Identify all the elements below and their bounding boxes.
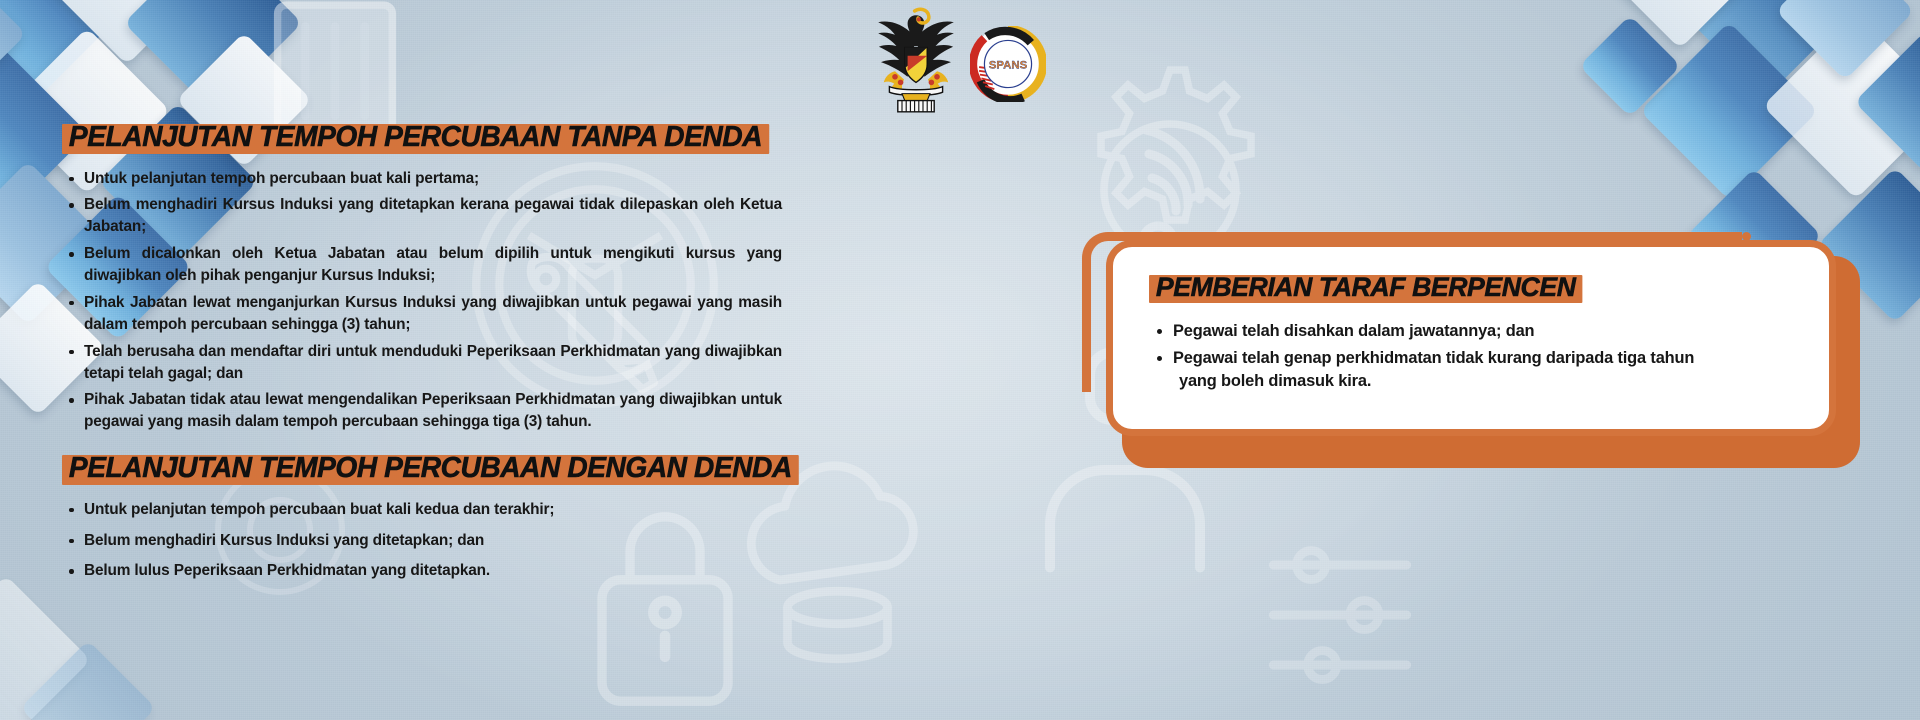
- list-item: Untuk pelanjutan tempoh percubaan buat k…: [62, 168, 782, 190]
- list-item: Pegawai telah genap perkhidmatan tidak k…: [1149, 347, 1803, 394]
- decor-diamond: [0, 0, 26, 96]
- list-item: Pegawai telah disahkan dalam jawatannya;…: [1149, 320, 1803, 344]
- decor-diamond: [0, 575, 91, 720]
- decor-diamond: [20, 640, 156, 720]
- decor-diamond: [1776, 0, 1915, 80]
- spans-logo-icon: SPANS: [970, 26, 1046, 102]
- list-item: Belum menghadiri Kursus Induksi yang dit…: [62, 194, 782, 238]
- pemberian-taraf-berpencen-card: PEMBERIAN TARAF BERPENCEN Pegawai telah …: [1106, 240, 1836, 436]
- list-item: Belum lulus Peperiksaan Perkhidmatan yan…: [62, 560, 782, 582]
- decor-diamond: [1579, 15, 1681, 117]
- section1-heading: PELANJUTAN TEMPOH PERCUBAAN TANPA DENDA: [62, 118, 769, 159]
- section2-heading: PELANJUTAN TEMPOH PERCUBAAN DENGAN DENDA: [62, 449, 799, 490]
- svg-text:SPANS: SPANS: [989, 60, 1028, 72]
- header-logos: SPANS: [874, 4, 1046, 116]
- decor-diamond: [1763, 13, 1920, 200]
- card-heading: PEMBERIAN TARAF BERPENCEN: [1149, 269, 1582, 308]
- section1-bullet-list: Untuk pelanjutan tempoh percubaan buat k…: [62, 168, 782, 434]
- decor-diamond: [1640, 22, 1818, 200]
- sliders-watermark-icon: [1240, 520, 1440, 710]
- right-card-group: PEMBERIAN TARAF BERPENCEN Pegawai telah …: [1082, 232, 1862, 492]
- list-item-text: Pegawai telah genap perkhidmatan tidak k…: [1173, 349, 1694, 367]
- list-item: Untuk pelanjutan tempoh percubaan buat k…: [62, 499, 782, 521]
- list-item-continuation: yang boleh dimasuk kira.: [1173, 370, 1803, 394]
- list-item: Pihak Jabatan lewat menganjurkan Kursus …: [62, 292, 782, 336]
- section2-bullet-list: Untuk pelanjutan tempoh percubaan buat k…: [62, 499, 782, 583]
- decor-diamond: [0, 0, 131, 111]
- list-item: Belum dicalonkan oleh Ketua Jabatan atau…: [62, 243, 782, 287]
- decor-diamond: [1673, 0, 1860, 97]
- left-content-column: PELANJUTAN TEMPOH PERCUBAAN TANPA DENDA …: [62, 118, 782, 591]
- list-item: Telah berusaha dan mendaftar diri untuk …: [62, 341, 782, 385]
- decor-diamond: [1595, 0, 1765, 49]
- list-item: Pihak Jabatan tidak atau lewat mengendal…: [62, 389, 782, 433]
- decor-diamond: [1854, 31, 1920, 172]
- decor-diamond: [35, 0, 219, 65]
- poster-canvas: SPANS PELANJUTAN TEMPOH PERCUBAAN TANPA …: [0, 0, 1920, 720]
- decor-diamond: [124, 0, 302, 112]
- list-item: Belum menghadiri Kursus Induksi yang dit…: [62, 530, 782, 552]
- card-bullet-list: Pegawai telah disahkan dalam jawatannya;…: [1149, 320, 1803, 394]
- sarawak-state-crest-icon: [874, 4, 958, 116]
